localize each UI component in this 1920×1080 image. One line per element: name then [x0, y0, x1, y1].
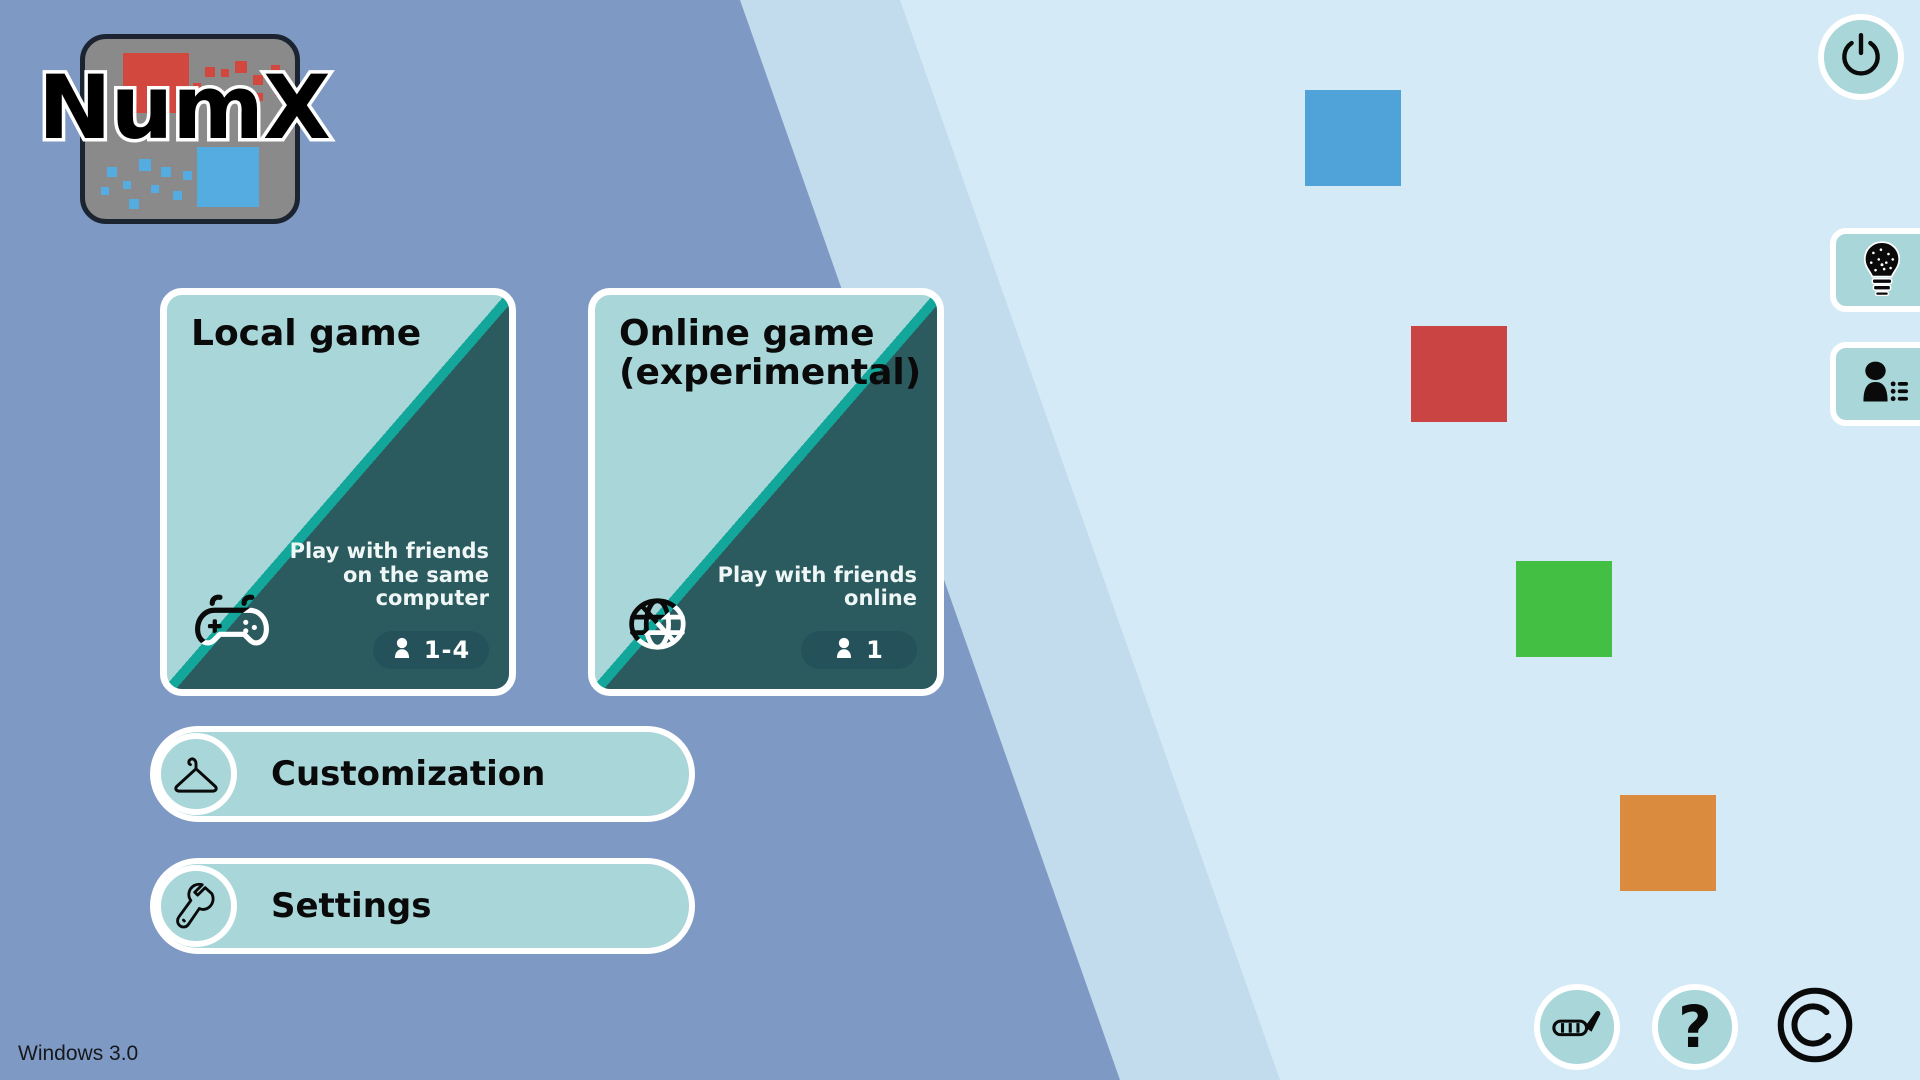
- game-mode-cards: Local game: [160, 288, 944, 696]
- app-logo: NumX: [80, 22, 300, 222]
- main-menu: Customization Settings: [150, 726, 695, 990]
- power-icon: [1836, 30, 1886, 84]
- card-description: Play with friends online: [707, 564, 917, 611]
- paint-roller-icon: [1550, 1005, 1604, 1049]
- decorative-square: [1305, 90, 1401, 186]
- person-icon: [834, 636, 854, 664]
- profile-tab[interactable]: [1830, 342, 1920, 426]
- decorative-square: [1620, 795, 1716, 891]
- logo-pixel: [101, 187, 109, 195]
- version-label: Windows 3.0: [18, 1042, 138, 1066]
- logo-wordmark: NumX: [38, 64, 358, 152]
- menu-item-settings[interactable]: Settings: [150, 858, 695, 954]
- card-player-badge: 1: [801, 631, 917, 669]
- globe-icon: [617, 587, 703, 661]
- credits-button[interactable]: [1772, 984, 1858, 1070]
- person-icon: [392, 636, 412, 664]
- card-local-game[interactable]: Local game: [160, 288, 516, 696]
- card-title: Local game: [191, 315, 491, 354]
- menu-item-label: Customization: [271, 754, 545, 794]
- hint-tab[interactable]: [1830, 228, 1920, 312]
- wrench-icon: [155, 865, 237, 947]
- power-button[interactable]: [1818, 14, 1904, 100]
- person-list-icon: [1856, 359, 1908, 409]
- menu-item-customization[interactable]: Customization: [150, 726, 695, 822]
- card-description: Play with friends on the same computer: [279, 540, 489, 611]
- card-title: Online game (experimental): [619, 315, 919, 393]
- lightbulb-icon: [1860, 240, 1904, 300]
- logo-pixel: [107, 167, 117, 177]
- theme-button[interactable]: [1534, 984, 1620, 1070]
- card-player-badge: 1-4: [373, 631, 489, 669]
- card-online-game[interactable]: Online game (experimental): [588, 288, 944, 696]
- logo-pixel: [129, 199, 139, 209]
- copyright-icon: [1775, 985, 1855, 1069]
- logo-pixel: [123, 181, 131, 189]
- decorative-square: [1516, 561, 1612, 657]
- logo-pixel: [161, 167, 171, 177]
- menu-item-label: Settings: [271, 886, 432, 926]
- help-button[interactable]: ?: [1652, 984, 1738, 1070]
- logo-pixel: [151, 185, 159, 193]
- player-count: 1: [866, 636, 884, 664]
- logo-pixel: [183, 171, 192, 180]
- decorative-square: [1411, 326, 1507, 422]
- logo-pixel: [139, 159, 151, 171]
- hanger-icon: [155, 733, 237, 815]
- player-count: 1-4: [424, 636, 470, 664]
- gamepad-icon: [189, 587, 275, 661]
- question-mark-icon: ?: [1678, 998, 1712, 1056]
- logo-pixel: [173, 191, 182, 200]
